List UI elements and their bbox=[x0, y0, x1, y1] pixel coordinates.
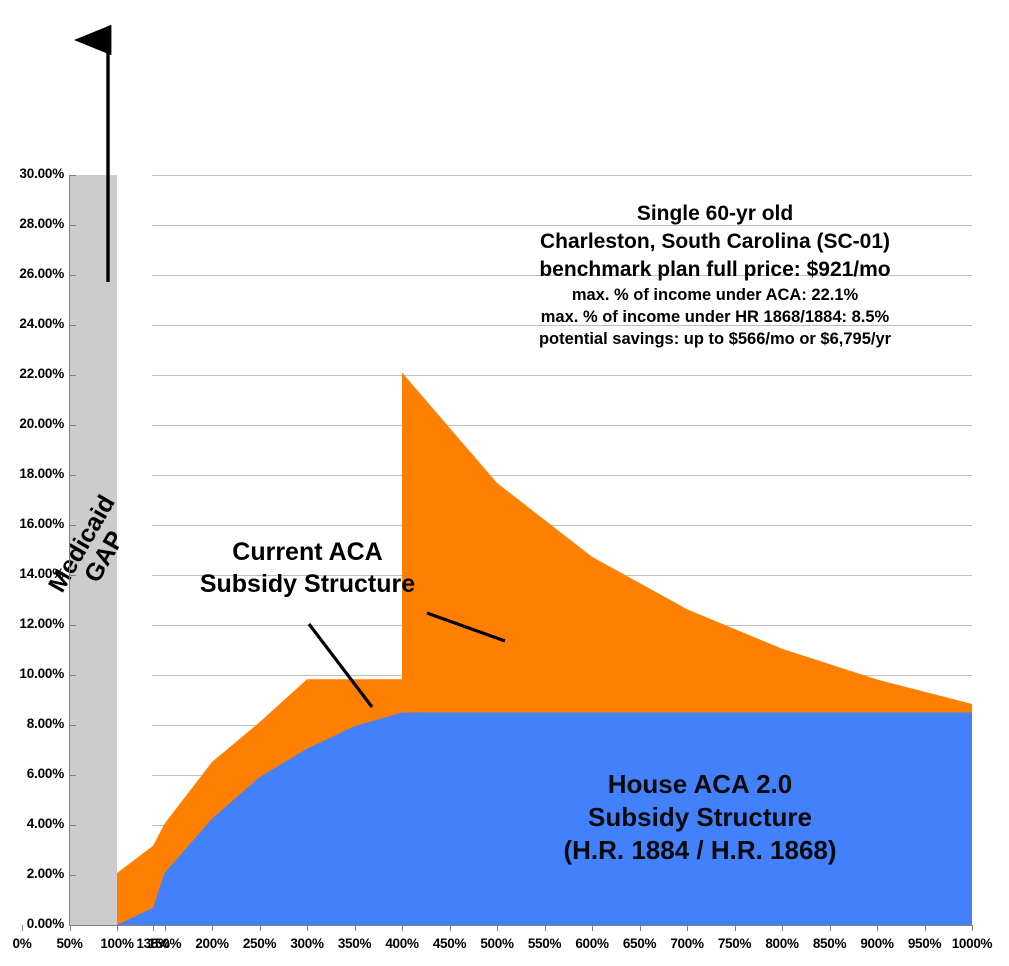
current-aca-label-line-1: Current ACA bbox=[165, 536, 450, 568]
info-line-1: Single 60-yr old bbox=[455, 200, 975, 228]
info-line-2: Charleston, South Carolina (SC-01) bbox=[455, 228, 975, 256]
info-line-4: max. % of income under ACA: 22.1% bbox=[455, 284, 975, 306]
house-aca-label-line-3: (H.R. 1884 / H.R. 1868) bbox=[470, 834, 930, 867]
house-aca-label-line-1: House ACA 2.0 bbox=[470, 768, 930, 801]
current-aca-label: Current ACA Subsidy Structure bbox=[165, 536, 450, 600]
aca-leader-line-left bbox=[309, 624, 372, 707]
info-line-6: potential savings: up to $566/mo or $6,7… bbox=[455, 328, 975, 350]
info-line-3: benchmark plan full price: $921/mo bbox=[455, 256, 975, 284]
house-aca-label: House ACA 2.0 Subsidy Structure (H.R. 18… bbox=[470, 768, 930, 867]
info-annotation-block: Single 60-yr old Charleston, South Carol… bbox=[455, 200, 975, 351]
info-line-5: max. % of income under HR 1868/1884: 8.5… bbox=[455, 306, 975, 328]
aca-leader-line-right bbox=[427, 613, 505, 641]
chart-root: Medicaid GAP 0.00%2.00%4.00%6.00%8.00%10… bbox=[0, 0, 1009, 966]
current-aca-label-line-2: Subsidy Structure bbox=[165, 568, 450, 600]
house-aca-label-line-2: Subsidy Structure bbox=[470, 801, 930, 834]
